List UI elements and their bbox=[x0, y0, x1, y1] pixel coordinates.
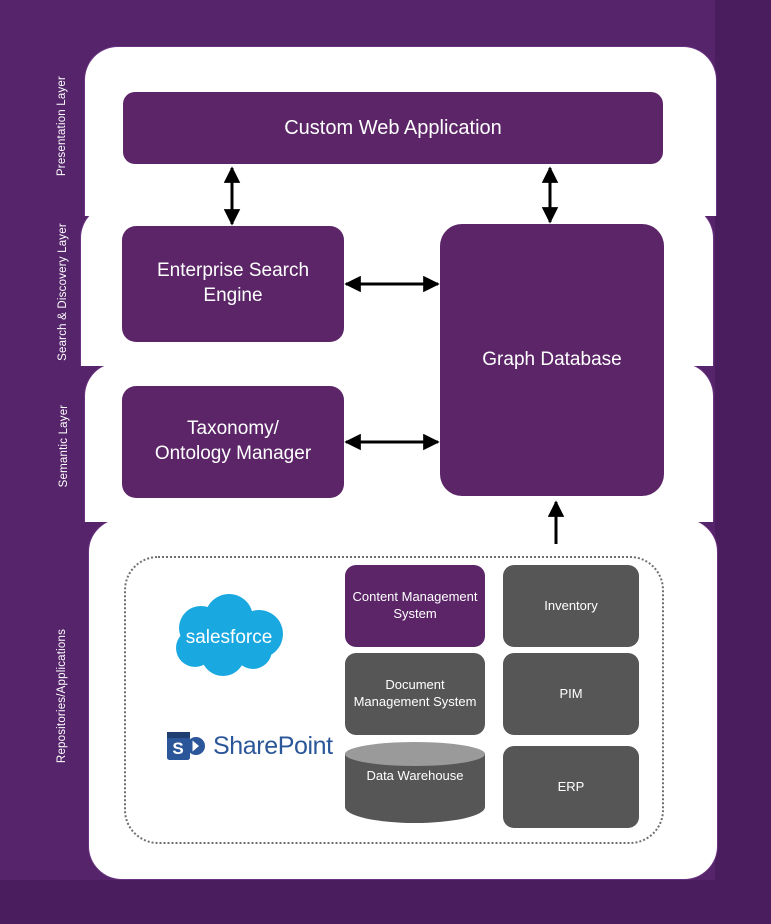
arrow-webapp-graph-database bbox=[534, 160, 566, 230]
repo-tile-content-management-system[interactable]: Content Management System bbox=[345, 565, 485, 647]
layer-label-semantic: Semantic Layer bbox=[58, 376, 70, 516]
arrow-taxonomy-graph-database bbox=[338, 426, 448, 458]
node-graph-database[interactable]: Graph Database bbox=[440, 224, 664, 496]
layer-label-presentation: Presentation Layer bbox=[56, 56, 68, 196]
data-warehouse-cylinder-top bbox=[345, 742, 485, 766]
node-taxonomy-line1: Taxonomy/ bbox=[155, 417, 311, 442]
repo-tile-data-warehouse[interactable]: Data Warehouse bbox=[345, 742, 485, 832]
layer-label-repositories: Repositories/Applications bbox=[56, 600, 68, 792]
repo-tile-erp[interactable]: ERP bbox=[503, 746, 639, 828]
svg-text:S: S bbox=[172, 739, 183, 758]
data-warehouse-label: Data Warehouse bbox=[345, 768, 485, 785]
node-enterprise-search-engine[interactable]: Enterprise Search Engine bbox=[122, 226, 344, 342]
arrow-repositories-graph-database bbox=[540, 494, 572, 550]
arrow-search-engine-graph-database bbox=[338, 268, 448, 300]
node-custom-web-application[interactable]: Custom Web Application bbox=[123, 92, 663, 164]
node-taxonomy-ontology-manager[interactable]: Taxonomy/ Ontology Manager bbox=[122, 386, 344, 498]
repo-tile-document-management-system[interactable]: Document Management System bbox=[345, 653, 485, 735]
salesforce-wordmark: salesforce bbox=[186, 627, 273, 648]
node-taxonomy-line2: Ontology Manager bbox=[155, 442, 311, 467]
node-search-engine-line1: Enterprise Search bbox=[157, 259, 309, 284]
background-right-band bbox=[715, 0, 771, 924]
repo-tile-pim[interactable]: PIM bbox=[503, 653, 639, 735]
arrow-webapp-search-engine bbox=[216, 160, 248, 232]
repo-tile-inventory[interactable]: Inventory bbox=[503, 565, 639, 647]
sharepoint-icon: S bbox=[166, 729, 206, 763]
node-search-engine-line2: Engine bbox=[157, 284, 309, 309]
background-bottom-band bbox=[0, 880, 771, 924]
layer-label-search-discovery: Search & Discovery Layer bbox=[57, 207, 69, 377]
sharepoint-wordmark: SharePoint bbox=[213, 732, 333, 761]
sharepoint-logo: S SharePoint bbox=[166, 726, 334, 766]
salesforce-logo-icon: salesforce bbox=[167, 592, 291, 680]
